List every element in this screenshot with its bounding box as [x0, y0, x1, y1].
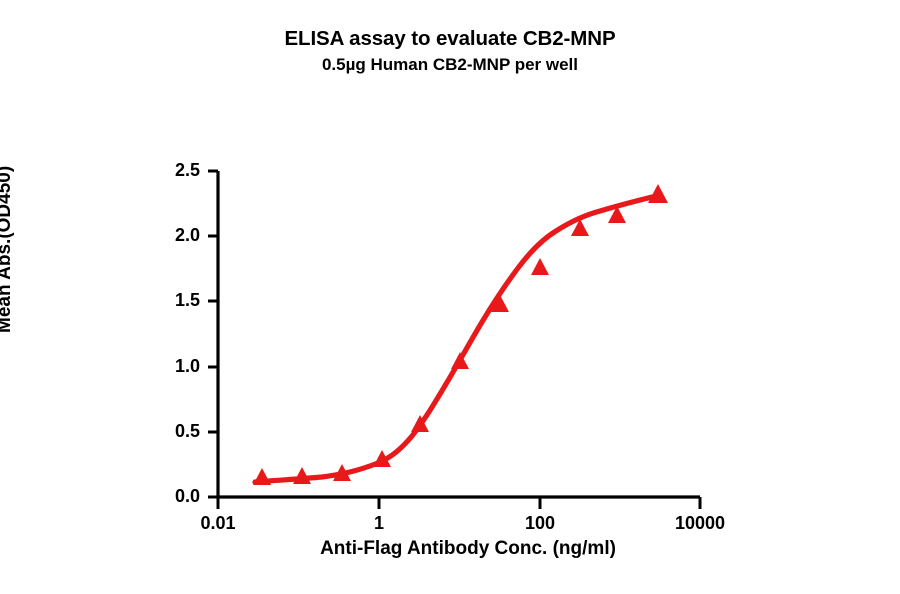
x-axis-label: Anti-Flag Antibody Conc. (ng/ml)	[218, 538, 718, 560]
y-tick-label: 0.0	[130, 486, 200, 507]
y-axis-label: Mean Abs.(OD450)	[0, 0, 16, 333]
y-tick-label: 2.5	[130, 160, 200, 181]
data-point	[253, 468, 271, 485]
chart-figure: ELISA assay to evaluate CB2-MNP 0.5µg Hu…	[0, 0, 900, 594]
data-point	[531, 258, 549, 275]
data-point	[648, 184, 668, 203]
y-tick-label: 1.0	[130, 356, 200, 377]
x-tick-label: 0.01	[158, 513, 278, 534]
plot-area: 2.5 2.0 1.5 1.0 0.5 0.0 0.01 1 100 10000…	[0, 0, 900, 594]
y-tick-label: 0.5	[130, 421, 200, 442]
y-tick-label: 1.5	[130, 290, 200, 311]
axis-lines	[218, 171, 700, 497]
data-point	[451, 352, 469, 369]
data-point	[293, 467, 311, 484]
fit-curve	[255, 196, 656, 482]
data-markers	[253, 184, 668, 485]
x-tick-label: 100	[480, 513, 600, 534]
x-tick-label: 1	[319, 513, 439, 534]
y-tick-label: 2.0	[130, 225, 200, 246]
x-axis-ticks	[218, 497, 700, 509]
x-tick-label: 10000	[640, 513, 760, 534]
